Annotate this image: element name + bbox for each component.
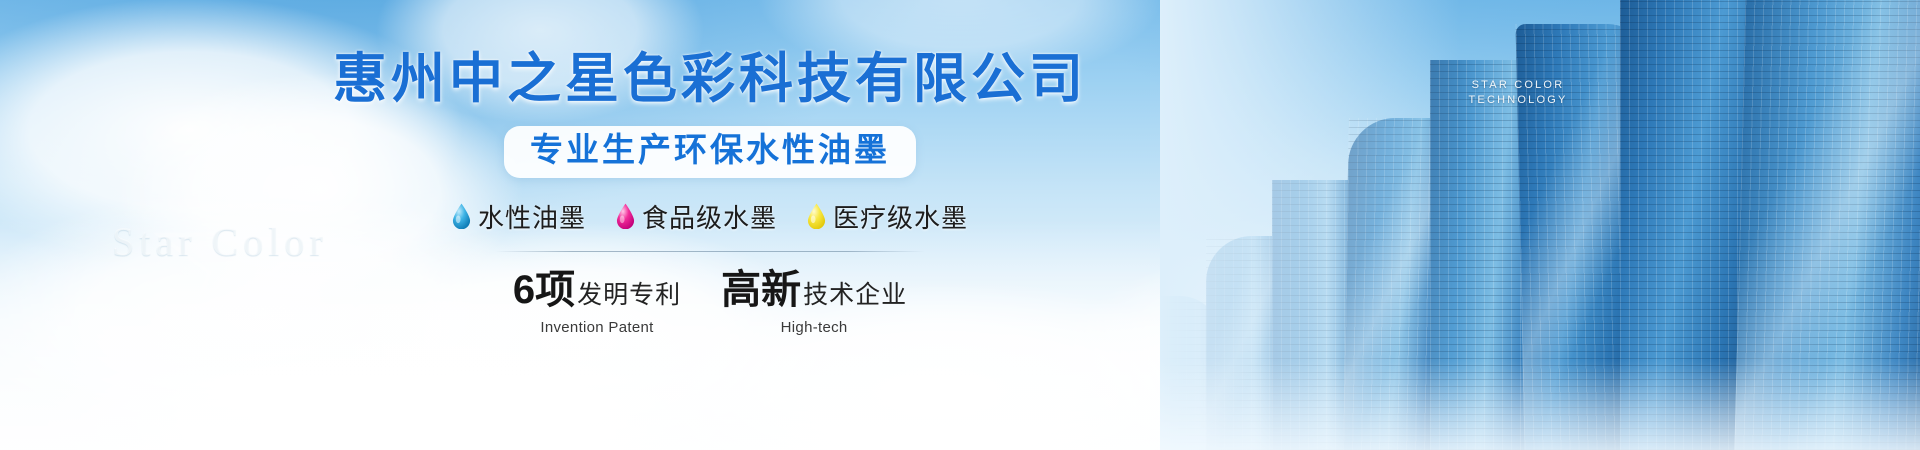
credential-badge-main: 高新 技术企业 bbox=[721, 270, 907, 310]
credential-badge-main: 6项 发明专利 bbox=[513, 270, 681, 310]
feature-item: 食品级水墨 bbox=[616, 198, 777, 235]
credential-badge: 高新 技术企业 High-tech bbox=[721, 270, 907, 336]
water-drop-icon bbox=[807, 203, 826, 229]
credential-badge-big: 6项 bbox=[513, 270, 575, 310]
credential-badge-en: Invention Patent bbox=[540, 319, 653, 336]
credential-badge-en: High-tech bbox=[781, 319, 848, 336]
banner-content: 惠州中之星色彩科技有限公司 专业生产环保水性油墨 水性油墨 bbox=[0, 0, 1420, 450]
water-drop-icon bbox=[452, 203, 471, 229]
section-divider bbox=[495, 251, 925, 252]
tagline-pill: 专业生产环保水性油墨 bbox=[504, 126, 916, 178]
tower-brand-label: STAR COLOR TECHNOLOGY bbox=[1462, 78, 1574, 108]
product-feature-list: 水性油墨 食品级水墨 bbox=[452, 198, 968, 235]
tower-brand-line2: TECHNOLOGY bbox=[1462, 93, 1574, 108]
credential-badge-small: 发明专利 bbox=[577, 283, 681, 308]
feature-label: 医疗级水墨 bbox=[833, 198, 968, 235]
feature-label: 食品级水墨 bbox=[642, 198, 777, 235]
credential-badge-list: 6项 发明专利 Invention Patent 高新 技术企业 High-te… bbox=[513, 270, 907, 336]
credential-badge-small: 技术企业 bbox=[803, 283, 907, 308]
feature-item: 水性油墨 bbox=[452, 198, 586, 235]
credential-badge: 6项 发明专利 Invention Patent bbox=[513, 270, 681, 336]
feature-item: 医疗级水墨 bbox=[807, 198, 968, 235]
feature-label: 水性油墨 bbox=[478, 198, 586, 235]
water-drop-icon bbox=[616, 203, 635, 229]
tower-brand-line1: STAR COLOR bbox=[1462, 78, 1574, 93]
credential-badge-big: 高新 bbox=[721, 270, 801, 310]
company-hero-banner: STAR COLOR TECHNOLOGY Star Color 惠州中之星色彩… bbox=[0, 0, 1920, 450]
company-title: 惠州中之星色彩科技有限公司 bbox=[333, 52, 1087, 106]
tagline-text: 专业生产环保水性油墨 bbox=[530, 133, 890, 168]
